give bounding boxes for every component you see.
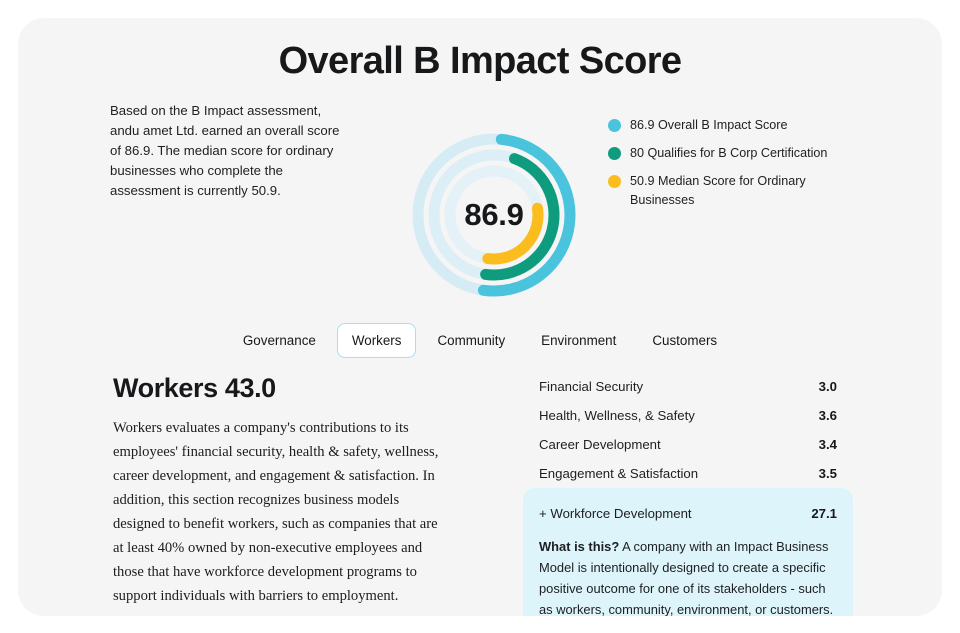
score-value: 3.4 — [819, 437, 837, 452]
score-row: Health, Wellness, & Safety3.6 — [523, 404, 853, 428]
score-row: Engagement & Satisfaction3.5 — [523, 461, 853, 485]
legend-item: 80 Qualifies for B Corp Certification — [608, 144, 858, 163]
workforce-development-label: + Workforce Development — [539, 506, 692, 521]
tab-workers[interactable]: Workers — [337, 323, 417, 358]
legend-item: 50.9 Median Score for Ordinary Businesse… — [608, 172, 858, 210]
impact-business-model-explainer: What is this? A company with an Impact B… — [523, 526, 853, 616]
tab-customers[interactable]: Customers — [637, 323, 732, 358]
score-value: 3.6 — [819, 408, 837, 423]
tab-environment[interactable]: Environment — [526, 323, 631, 358]
workforce-development-value: 27.1 — [811, 506, 837, 521]
score-value: 3.5 — [819, 466, 837, 481]
tab-governance[interactable]: Governance — [228, 323, 331, 358]
legend-item: 86.9 Overall B Impact Score — [608, 116, 858, 135]
page-title: Overall B Impact Score — [18, 40, 942, 83]
category-tabs[interactable]: GovernanceWorkersCommunityEnvironmentCus… — [18, 323, 942, 358]
score-label: Career Development — [539, 437, 661, 452]
subcategory-score-list: Financial Security3.0Health, Wellness, &… — [523, 375, 853, 490]
workforce-development-row[interactable]: + Workforce Development 27.1 — [523, 500, 853, 526]
score-value: 3.0 — [819, 379, 837, 394]
legend-dot-icon — [608, 147, 621, 160]
chart-legend: 86.9 Overall B Impact Score80 Qualifies … — [608, 116, 858, 219]
explainer-lead: What is this? — [539, 539, 619, 554]
score-label: Health, Wellness, & Safety — [539, 408, 695, 423]
score-label: Engagement & Satisfaction — [539, 466, 698, 481]
legend-label: 80 Qualifies for B Corp Certification — [630, 144, 827, 163]
legend-label: 86.9 Overall B Impact Score — [630, 116, 788, 135]
legend-dot-icon — [608, 175, 621, 188]
legend-label: 50.9 Median Score for Ordinary Businesse… — [630, 172, 858, 210]
legend-dot-icon — [608, 119, 621, 132]
score-label: Financial Security — [539, 379, 643, 394]
detail-description: Workers evaluates a company's contributi… — [113, 416, 451, 608]
intro-paragraph: Based on the B Impact assessment, andu a… — [110, 101, 352, 201]
overall-score-donut-chart: 86.9 — [392, 113, 596, 317]
detail-heading: Workers 43.0 — [113, 373, 276, 404]
score-row: Financial Security3.0 — [523, 375, 853, 399]
score-row: Career Development3.4 — [523, 433, 853, 457]
impact-report-card: Overall B Impact Score Based on the B Im… — [18, 18, 942, 616]
donut-center-value: 86.9 — [392, 113, 596, 317]
impact-business-model-panel[interactable]: + Workforce Development 27.1 What is thi… — [523, 488, 853, 616]
tab-community[interactable]: Community — [422, 323, 520, 358]
